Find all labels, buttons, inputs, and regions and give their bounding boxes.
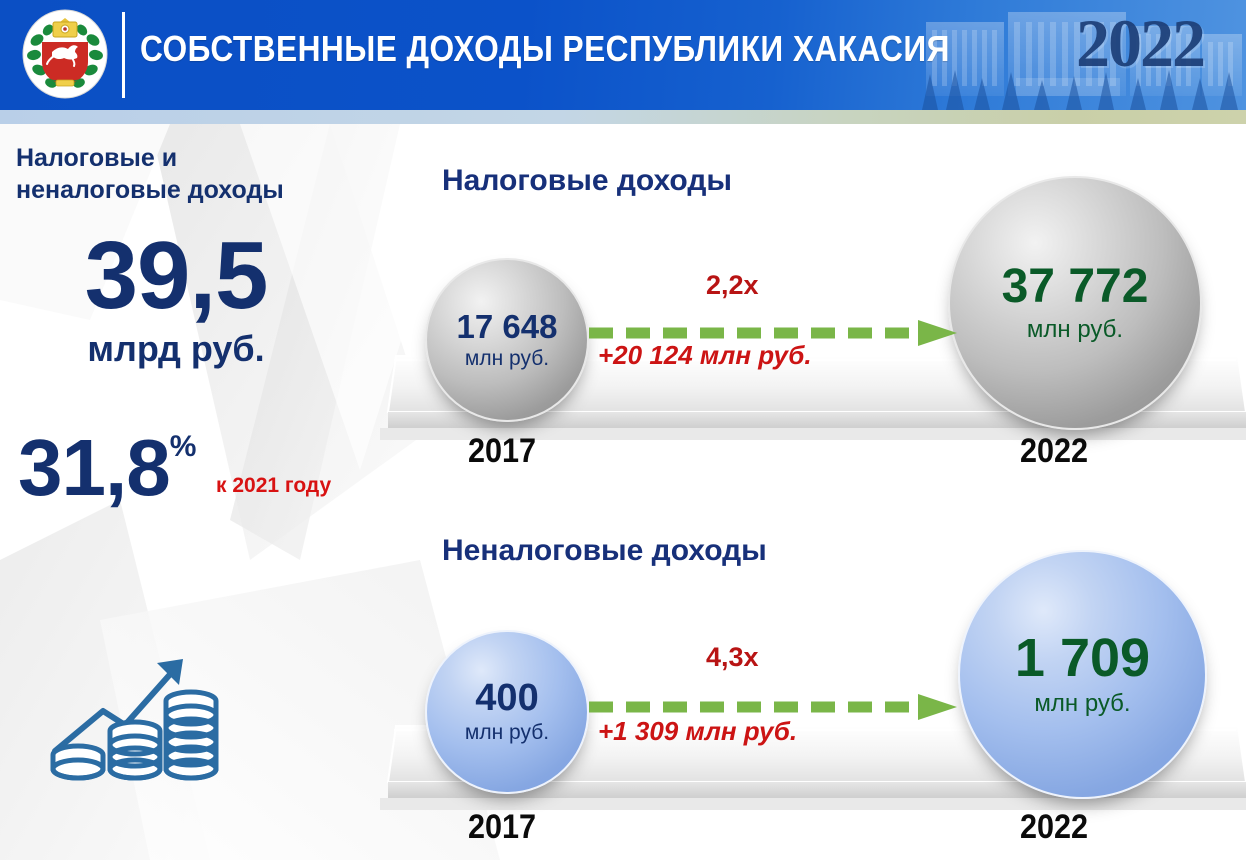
page-header: 2022 СОБСТВЕННЫЕ ДОХОДЫ РЕСПУБЛИКИ ХАКАС… <box>0 0 1246 110</box>
bubble-tax-2017: 17 648 млн руб. <box>425 258 589 422</box>
year-badge: 2022 <box>1076 4 1204 83</box>
percent-sign: % <box>170 430 197 464</box>
summary-percent-group: 31,8% к 2021 году <box>18 428 358 508</box>
chart-title-tax: Налоговые доходы <box>442 164 732 198</box>
header-divider <box>122 12 125 98</box>
bubble-tax-2017-value: 17 648 <box>457 310 558 343</box>
summary-caption: Налоговые и неналоговые доходы <box>16 142 346 206</box>
bubble-nontax-2017: 400 млн руб. <box>425 630 589 794</box>
bubble-nontax-2022: 1 709 млн руб. <box>958 550 1207 799</box>
summary-value: 39,5 <box>26 228 326 324</box>
coins-growth-icon <box>45 633 220 788</box>
header-bottom-strip <box>0 110 1246 124</box>
year-label-tax-2017: 2017 <box>468 432 536 471</box>
chart-tax-revenue: Налоговые доходы 17 648 млн руб. 37 772 … <box>380 150 1246 490</box>
multiplier-nontax: 4,3х <box>706 642 759 673</box>
chart-title-nontax: Неналоговые доходы <box>442 534 767 568</box>
year-label-nontax-2022: 2022 <box>1020 808 1088 847</box>
summary-panel: Налоговые и неналоговые доходы 39,5 млрд… <box>0 128 380 858</box>
year-label-tax-2022: 2022 <box>1020 432 1088 471</box>
bubble-tax-2022-unit: млн руб. <box>1027 317 1123 343</box>
year-label-nontax-2017: 2017 <box>468 808 536 847</box>
summary-percent-note: к 2021 году <box>216 474 331 498</box>
khakassia-coat-of-arms <box>20 8 110 100</box>
page-title: СОБСТВЕННЫЕ ДОХОДЫ РЕСПУБЛИКИ ХАКАСИЯ <box>140 28 950 70</box>
bubble-tax-2022-value: 37 772 <box>1002 263 1149 311</box>
bubble-nontax-2017-unit: млн руб. <box>465 721 549 744</box>
chart-nontax-revenue: Неналоговые доходы 400 млн руб. 1 709 мл… <box>380 520 1246 860</box>
multiplier-tax: 2,2х <box>706 270 759 301</box>
summary-percent-value: 31,8 <box>18 428 170 508</box>
bubble-tax-2022: 37 772 млн руб. <box>948 176 1202 430</box>
summary-unit: млрд руб. <box>26 328 326 370</box>
bubble-nontax-2017-value: 400 <box>475 679 538 717</box>
delta-tax: +20 124 млн руб. <box>598 340 812 371</box>
bubble-nontax-2022-unit: млн руб. <box>1034 691 1130 717</box>
bubble-tax-2017-unit: млн руб. <box>465 347 549 370</box>
delta-nontax: +1 309 млн руб. <box>598 716 797 747</box>
bubble-nontax-2022-value: 1 709 <box>1015 631 1150 685</box>
